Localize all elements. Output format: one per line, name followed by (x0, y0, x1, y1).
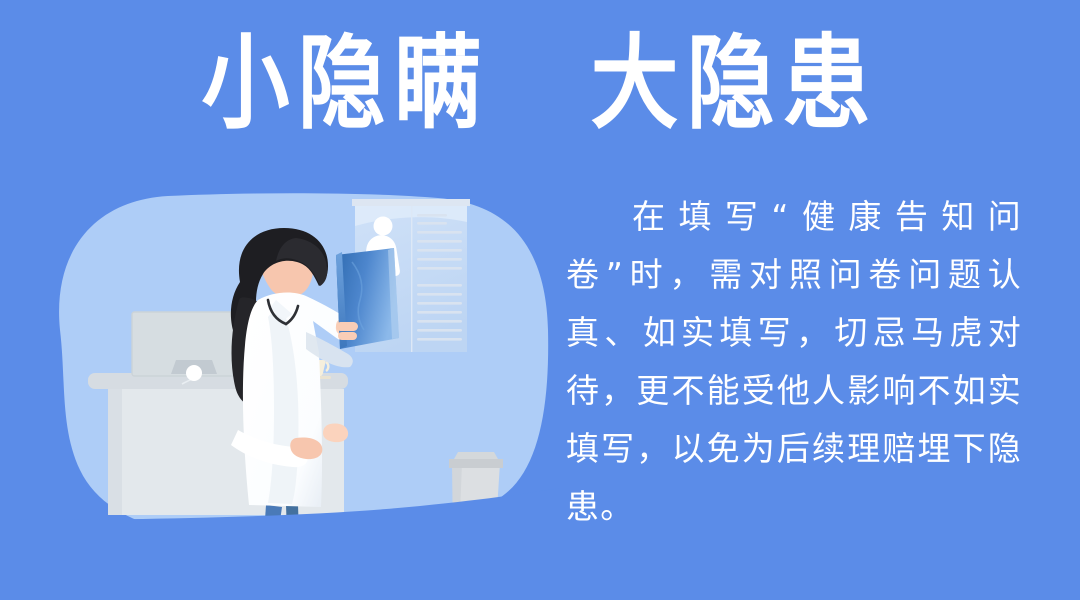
body-paragraph: 在填写“健康告知问卷”时，需对照问卷问题认真、如实填写，切忌马虎对待，更不能受他… (566, 188, 1022, 536)
poster-canvas: 小隐瞒 大隐患 在填写“健康告知问卷”时，需对照问卷问题认真、如实填写，切忌马虎… (0, 0, 1080, 600)
title-word-right: 大隐患 (590, 28, 878, 138)
illustration-svg (0, 0, 560, 600)
illustration (0, 0, 560, 600)
